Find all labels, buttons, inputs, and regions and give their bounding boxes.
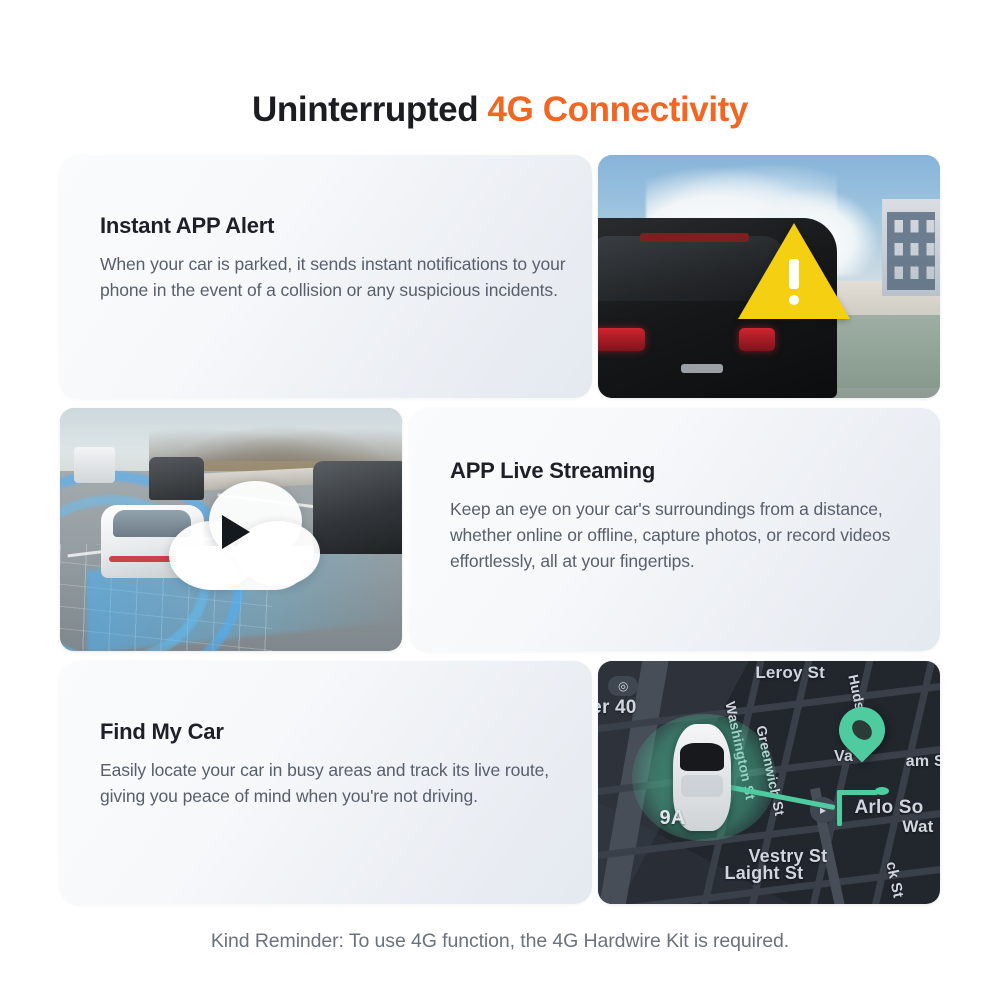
feature-card-body: APP Live Streaming Keep an eye on your c… (450, 458, 914, 574)
play-triangle-icon[interactable] (222, 515, 250, 549)
feature-title: APP Live Streaming (450, 458, 914, 484)
feature-description: Easily locate your car in busy areas and… (100, 757, 566, 809)
suv-right-lane (313, 461, 402, 553)
kind-reminder-note: Kind Reminder: To use 4G function, the 4… (0, 930, 1000, 953)
feature-row-3: Find My Car Easily locate your car in bu… (60, 661, 940, 904)
map-street-label: Leroy St (755, 663, 825, 683)
feature-card-body: Find My Car Easily locate your car in bu… (100, 719, 566, 809)
map-street-label: er 40 (598, 697, 637, 719)
feature-card-body: Instant APP Alert When your car is parke… (100, 213, 566, 303)
map-street-label: Laight St (725, 863, 804, 884)
map-canvas: Leroy St er 40 Washington St Greenwich S… (598, 661, 940, 904)
cloud-play-icon[interactable] (169, 481, 319, 593)
map-street-label: am S (906, 753, 940, 771)
map-route-shield-icon: ◎ (608, 676, 638, 696)
feature-card-instant-app-alert: Instant APP Alert When your car is parke… (60, 155, 592, 398)
feature-row-2: APP Live Streaming Keep an eye on your c… (60, 408, 940, 651)
page-title: Uninterrupted 4G Connectivity (0, 86, 1000, 134)
map-route-badge: 9A (660, 807, 686, 830)
feature-card-app-live-streaming: APP Live Streaming Keep an eye on your c… (410, 408, 940, 651)
photo-scene (60, 408, 402, 651)
tailgate-handle (681, 364, 723, 373)
highway-live-streaming-photo[interactable] (60, 408, 402, 651)
feature-description: Keep an eye on your car's surroundings f… (450, 496, 914, 574)
photo-scene (598, 155, 940, 398)
map-poi-label: Wat (902, 817, 933, 837)
background-building (882, 199, 940, 296)
feature-title: Find My Car (100, 719, 566, 745)
infographic-page: Uninterrupted 4G Connectivity Instant AP… (0, 0, 1000, 1000)
warning-triangle-icon (738, 223, 850, 319)
feature-card-find-my-car: Find My Car Easily locate your car in bu… (60, 661, 592, 904)
find-my-car-map[interactable]: Leroy St er 40 Washington St Greenwich S… (598, 661, 940, 904)
brake-light-bar (640, 233, 749, 242)
map-route-line (837, 790, 842, 826)
distant-van (74, 447, 115, 483)
feature-title: Instant APP Alert (100, 213, 566, 239)
feature-row-1: Instant APP Alert When your car is parke… (60, 155, 940, 398)
tail-light-left (598, 328, 645, 351)
map-route-line (837, 790, 878, 795)
feature-description: When your car is parked, it sends instan… (100, 251, 566, 303)
parked-car-collision-alert-photo (598, 155, 940, 398)
tail-light-right (739, 328, 775, 351)
page-title-prefix: Uninterrupted (252, 90, 488, 129)
page-title-accent: 4G Connectivity (488, 90, 748, 129)
